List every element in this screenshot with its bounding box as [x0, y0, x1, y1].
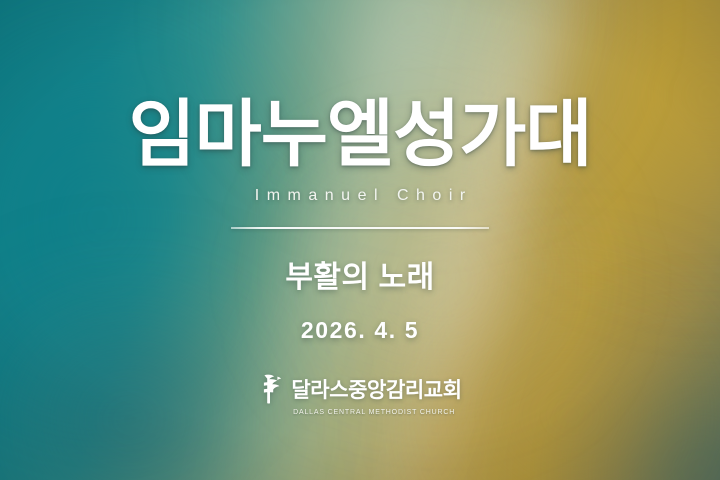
church-logo-lockup: 달라스중앙감리교회 DALLAS CENTRAL METHODIST CHURC…: [258, 374, 461, 416]
song-title: 부활의 노래: [285, 252, 434, 296]
divider: [231, 227, 489, 229]
page-title: 임마누엘성가대: [128, 98, 591, 171]
church-logo-row: 달라스중앙감리교회: [258, 374, 461, 404]
event-date: 2026. 4. 5: [301, 317, 419, 344]
title-slide: 임마누엘성가대 Immanuel Choir 부활의 노래 2026. 4. 5…: [0, 0, 720, 480]
church-name-english: DALLAS CENTRAL METHODIST CHURCH: [293, 407, 455, 416]
cross-dove-mark-icon: [258, 374, 284, 404]
church-name-korean: 달라스중앙감리교회: [291, 374, 461, 404]
page-subtitle: Immanuel Choir: [247, 187, 472, 205]
slide-content: 임마누엘성가대 Immanuel Choir 부활의 노래 2026. 4. 5…: [0, 0, 720, 480]
